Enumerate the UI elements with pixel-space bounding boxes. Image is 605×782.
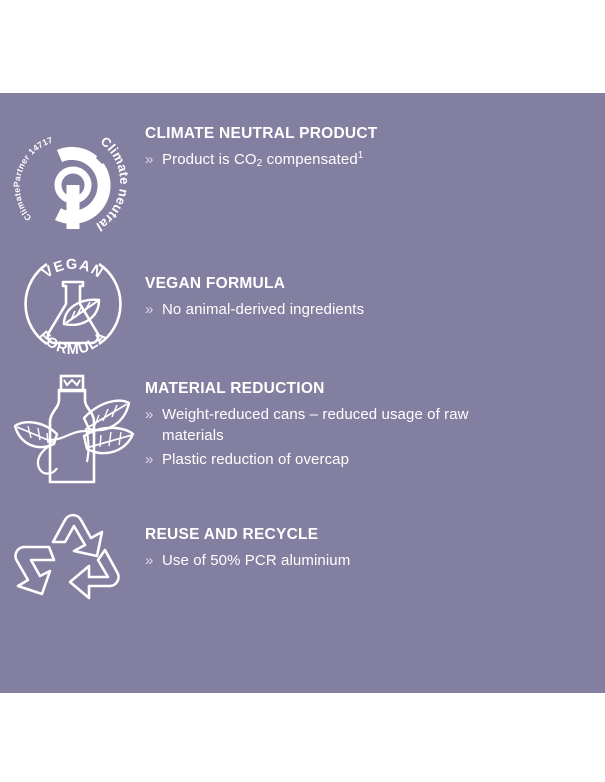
svg-text:VEGAN: VEGAN [39,257,105,282]
feature-vegan-formula: VEGAN FORMULA VEGAN FORMULA » No animal-… [0,242,605,366]
feature-title: VEGAN FORMULA [145,275,605,293]
feature-text-vegan-formula: VEGAN FORMULA » No animal-derived ingred… [145,242,605,321]
bullet-item: » Product is CO2 compensated1 [145,149,605,170]
bullet-item: » No animal-derived ingredients [145,299,605,320]
bullet-item: » Plastic reduction of overcap [145,449,605,470]
bullet-text: Product is CO2 compensated1 [162,149,363,170]
bullet-marker: » [145,299,162,320]
feature-reuse-and-recycle: REUSE AND RECYCLE » Use of 50% PCR alumi… [0,506,605,611]
bullet-marker: » [145,449,162,470]
bullet-item: » Use of 50% PCR aluminium [145,550,605,571]
feature-text-material-reduction: MATERIAL REDUCTION » Weight-reduced cans… [145,370,605,472]
feature-title: REUSE AND RECYCLE [145,526,605,544]
bullet-marker: » [145,149,162,170]
climate-partner-seal-icon: ClimatePartner 14717-2005-1001 Climate n… [0,123,145,247]
bullet-marker: » [145,404,162,425]
svg-text:FORMULA: FORMULA [35,328,111,358]
vegan-formula-seal-icon: VEGAN FORMULA [0,242,145,366]
bottle-with-leaves-icon [0,370,145,492]
feature-title: MATERIAL REDUCTION [145,380,605,398]
svg-text:ClimatePartner 14717-2005-1001: ClimatePartner 14717-2005-1001 [11,123,54,223]
bullet-item: » Weight-reduced cans – reduced usage of… [145,404,605,447]
bullet-text: No animal-derived ingredients [162,299,364,320]
bullet-text: Weight-reduced cans – reduced usage of r… [162,404,472,447]
feature-material-reduction: MATERIAL REDUCTION » Weight-reduced cans… [0,370,605,492]
feature-text-climate-neutral-product: CLIMATE NEUTRAL PRODUCT » Product is CO2… [145,123,605,171]
recycle-icon [0,506,145,611]
benefits-panel: ClimatePartner 14717-2005-1001 Climate n… [0,93,605,693]
bullet-marker: » [145,550,162,571]
vegan-label: VEGAN [39,257,105,282]
feature-title: CLIMATE NEUTRAL PRODUCT [145,125,605,143]
bullet-text: Plastic reduction of overcap [162,449,349,470]
bullet-text: Use of 50% PCR aluminium [162,550,350,571]
feature-climate-neutral-product: ClimatePartner 14717-2005-1001 Climate n… [0,123,605,247]
feature-text-reuse-and-recycle: REUSE AND RECYCLE » Use of 50% PCR alumi… [145,506,605,572]
formula-label: FORMULA [35,328,111,358]
